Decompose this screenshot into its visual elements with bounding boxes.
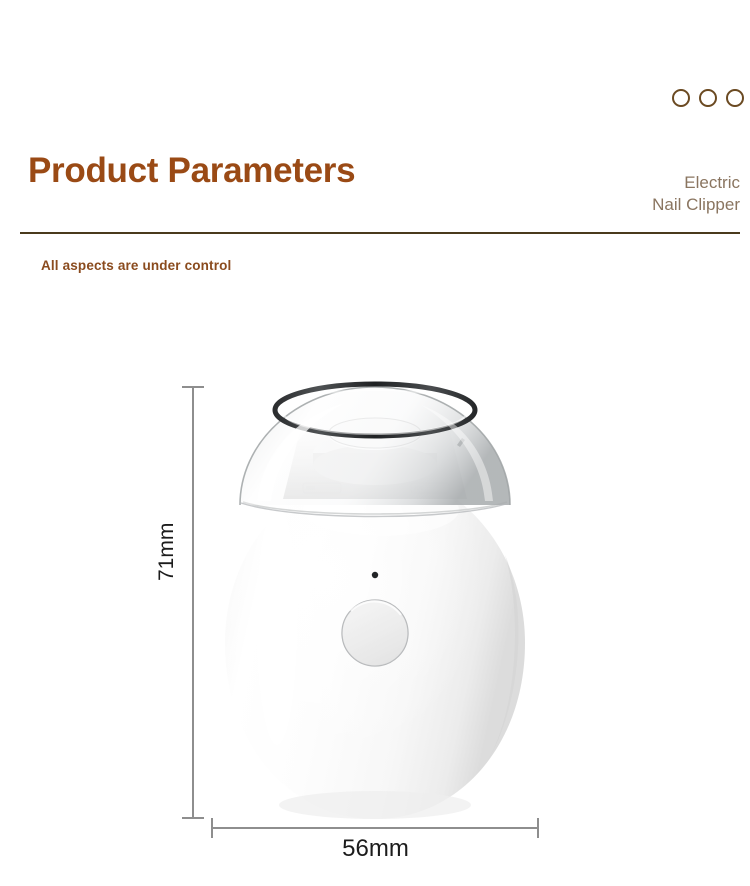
brand-label-line-1: Electric — [652, 172, 740, 194]
width-dimension-cap-left — [211, 818, 213, 838]
transparent-dome-cap — [240, 384, 510, 517]
product-image — [205, 375, 545, 825]
product-parameters-page: Product Parameters Electric Nail Clipper… — [0, 0, 750, 886]
header-divider — [20, 232, 740, 234]
width-dimension-label: 56mm — [211, 835, 540, 863]
brand-label: Electric Nail Clipper — [652, 172, 740, 217]
circle-outline-icon — [726, 89, 744, 107]
circle-outline-icon — [672, 89, 690, 107]
brand-label-line-2: Nail Clipper — [652, 194, 740, 216]
decorative-dots — [672, 89, 744, 107]
cap-seam — [243, 502, 507, 514]
power-button — [342, 600, 408, 666]
led-indicator — [372, 572, 378, 578]
width-dimension-line — [211, 827, 538, 829]
page-title: Product Parameters — [28, 150, 355, 191]
latch-tabs — [303, 483, 449, 493]
product-figure: 71mm 56mm — [0, 0, 750, 886]
width-dimension-cap-right — [537, 818, 539, 838]
section-subtitle: All aspects are under control — [41, 258, 231, 273]
height-dimension-cap-bottom — [182, 817, 204, 819]
height-dimension-cap-top — [182, 386, 204, 388]
height-dimension-label: 71mm — [155, 525, 179, 581]
product-body — [225, 471, 525, 819]
height-dimension-line — [192, 386, 194, 818]
circle-outline-icon — [699, 89, 717, 107]
